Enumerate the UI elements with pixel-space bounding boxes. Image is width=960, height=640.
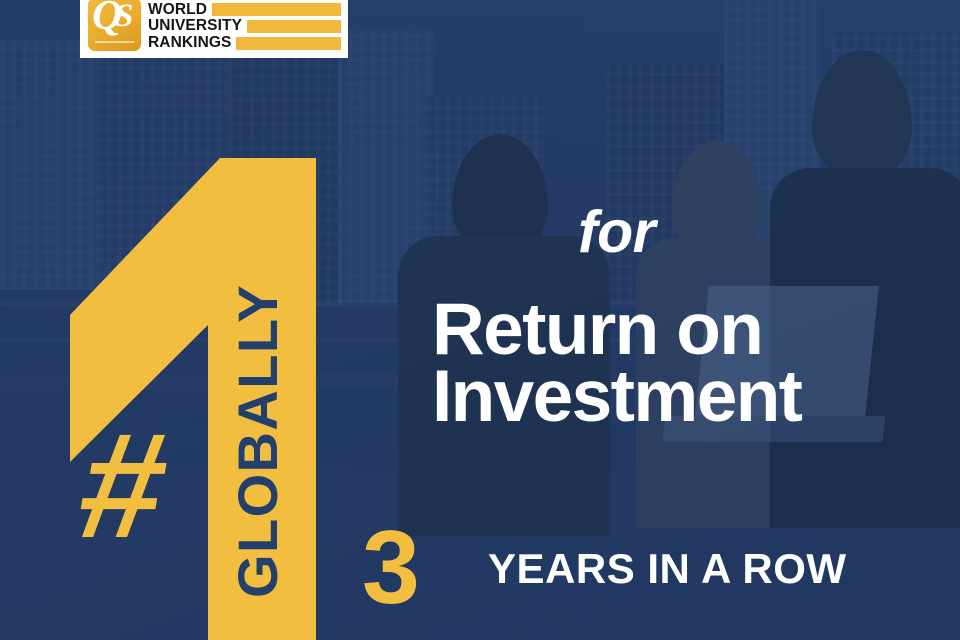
qs-word-world: WORLD xyxy=(148,2,207,18)
qs-logo: Q S WORLD UNIVERSITY RANKINGS xyxy=(80,0,348,58)
qs-wordmark-line: WORLD xyxy=(148,2,341,18)
headline-line-1: Return on xyxy=(432,296,902,363)
qs-letter-s: S xyxy=(115,0,133,33)
qs-wordmark-line: RANKINGS xyxy=(148,35,341,51)
qs-gold-bar xyxy=(247,20,341,33)
headline-subject: Return on Investment xyxy=(432,296,902,430)
scope-label-globally: GLOBALLY xyxy=(222,268,294,598)
connector-for: for xyxy=(578,203,655,262)
qs-underline xyxy=(95,41,134,43)
poster-canvas: Q S WORLD UNIVERSITY RANKINGS xyxy=(0,0,960,640)
qs-wordmark-line: UNIVERSITY xyxy=(148,18,341,34)
qs-word-rankings: RANKINGS xyxy=(148,35,231,51)
headline-line-2: Investment xyxy=(432,363,902,430)
qs-gold-bar xyxy=(212,3,341,16)
qs-word-university: UNIVERSITY xyxy=(148,18,242,34)
qs-gold-bar xyxy=(236,37,341,50)
qs-monogram-mark: Q S xyxy=(88,0,141,51)
qs-wordmark: WORLD UNIVERSITY RANKINGS xyxy=(148,2,341,51)
years-count: 3 xyxy=(362,516,418,620)
years-in-a-row-caption: YEARS IN A ROW xyxy=(488,548,847,590)
